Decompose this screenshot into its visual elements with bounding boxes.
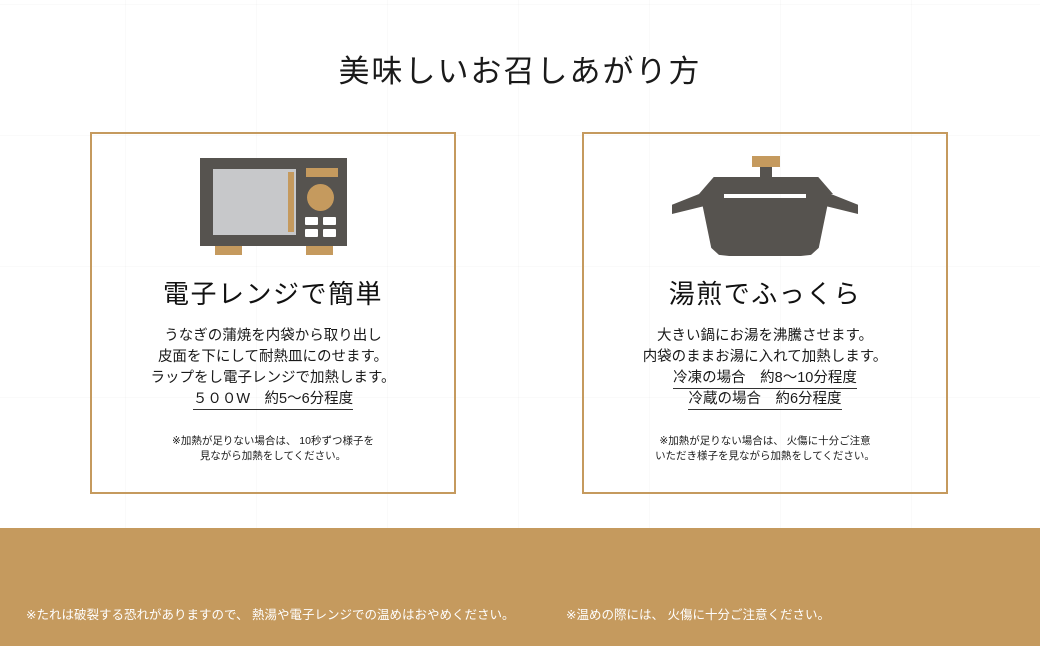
panel-note-hot-water: ※加熱が足りない場合は、 火傷に十分ご注意 いただき様子を見ながら加熱をしてくだ… [584,434,946,464]
body-line-highlight: 冷蔵の場合 約6分程度 [688,389,841,410]
microwave-foot [215,246,242,255]
pot-body [701,198,829,256]
footer-notice-line: ※温めの際には、 火傷に十分ご注意ください。 [566,601,991,629]
instruction-card: 美味しいお召しあがり方 電子レンジで簡単 うなぎの蒲焼を内袋から取り出し 皮面を… [0,0,1040,646]
note-line: いただき様子を見ながら加熱をしてください。 [655,450,875,462]
panel-body-microwave: うなぎの蒲焼を内袋から取り出し 皮面を下にして耐熱皿にのせます。 ラップをし電子… [92,326,454,410]
body-line: ラップをし電子レンジで加熱します。 [150,370,395,386]
body-line: 皮面を下にして耐熱皿にのせます。 [158,349,388,365]
panel-note-microwave: ※加熱が足りない場合は、 10秒ずつ様子を 見ながら加熱をしてください。 [92,434,454,464]
panel-heading-hot-water: 湯煎でふっくら [584,274,946,311]
microwave-icon [196,158,351,255]
body-line: 大きい鍋にお湯を沸騰させます。 [657,328,873,344]
microwave-icon-wrap [92,152,454,260]
microwave-window [213,169,296,235]
pot-icon-wrap [584,152,946,260]
footer-notice-bar: ※たれは破裂する恐れがありますので、 熱湯や電子レンジでの温めはおやめください。… [0,528,1040,646]
footer-notice-line: ※たれは破裂する恐れがありますので、 熱湯や電子レンジでの温めはおやめください。 [26,601,514,629]
microwave-foot [306,246,333,255]
note-line: ※加熱が足りない場合は、 火傷に十分ご注意 [659,435,870,447]
body-line: うなぎの蒲焼を内袋から取り出し [164,328,382,344]
panel-hot-water: 湯煎でふっくら 大きい鍋にお湯を沸騰させます。 内袋のままお湯に入れて加熱します… [582,132,948,494]
microwave-button [323,217,336,225]
pot-icon [669,156,861,256]
footer-notices-left: ※たれは破裂する恐れがありますので、 熱湯や電子レンジでの温めはおやめください。… [26,545,514,646]
microwave-button [305,229,318,237]
panel-heading-microwave: 電子レンジで簡単 [92,274,454,311]
microwave-button [305,217,318,225]
microwave-button [323,229,336,237]
panel-microwave: 電子レンジで簡単 うなぎの蒲焼を内袋から取り出し 皮面を下にして耐熱皿にのせます… [90,132,456,494]
footer-notices-right: ※温めの際には、 火傷に十分ご注意ください。 ※温かいうちにお召し上がりください… [566,545,991,646]
page-title: 美味しいお召しあがり方 [0,46,1040,91]
body-line-highlight: 冷凍の場合 約8〜10分程度 [673,368,857,389]
note-line: ※加熱が足りない場合は、 10秒ずつ様子を [172,435,374,447]
pot-knob-stem [760,167,772,178]
panel-body-hot-water: 大きい鍋にお湯を沸騰させます。 内袋のままお湯に入れて加熱します。 冷凍の場合 … [584,326,946,410]
microwave-display [306,168,338,177]
microwave-dial [307,184,334,211]
pot-lid [699,177,833,194]
body-line: 内袋のままお湯に入れて加熱します。 [643,349,888,365]
body-line-highlight: ５００W 約5〜6分程度 [193,389,353,410]
pot-knob [752,156,780,167]
microwave-door-handle [288,172,294,232]
note-line: 見ながら加熱をしてください。 [200,450,346,462]
